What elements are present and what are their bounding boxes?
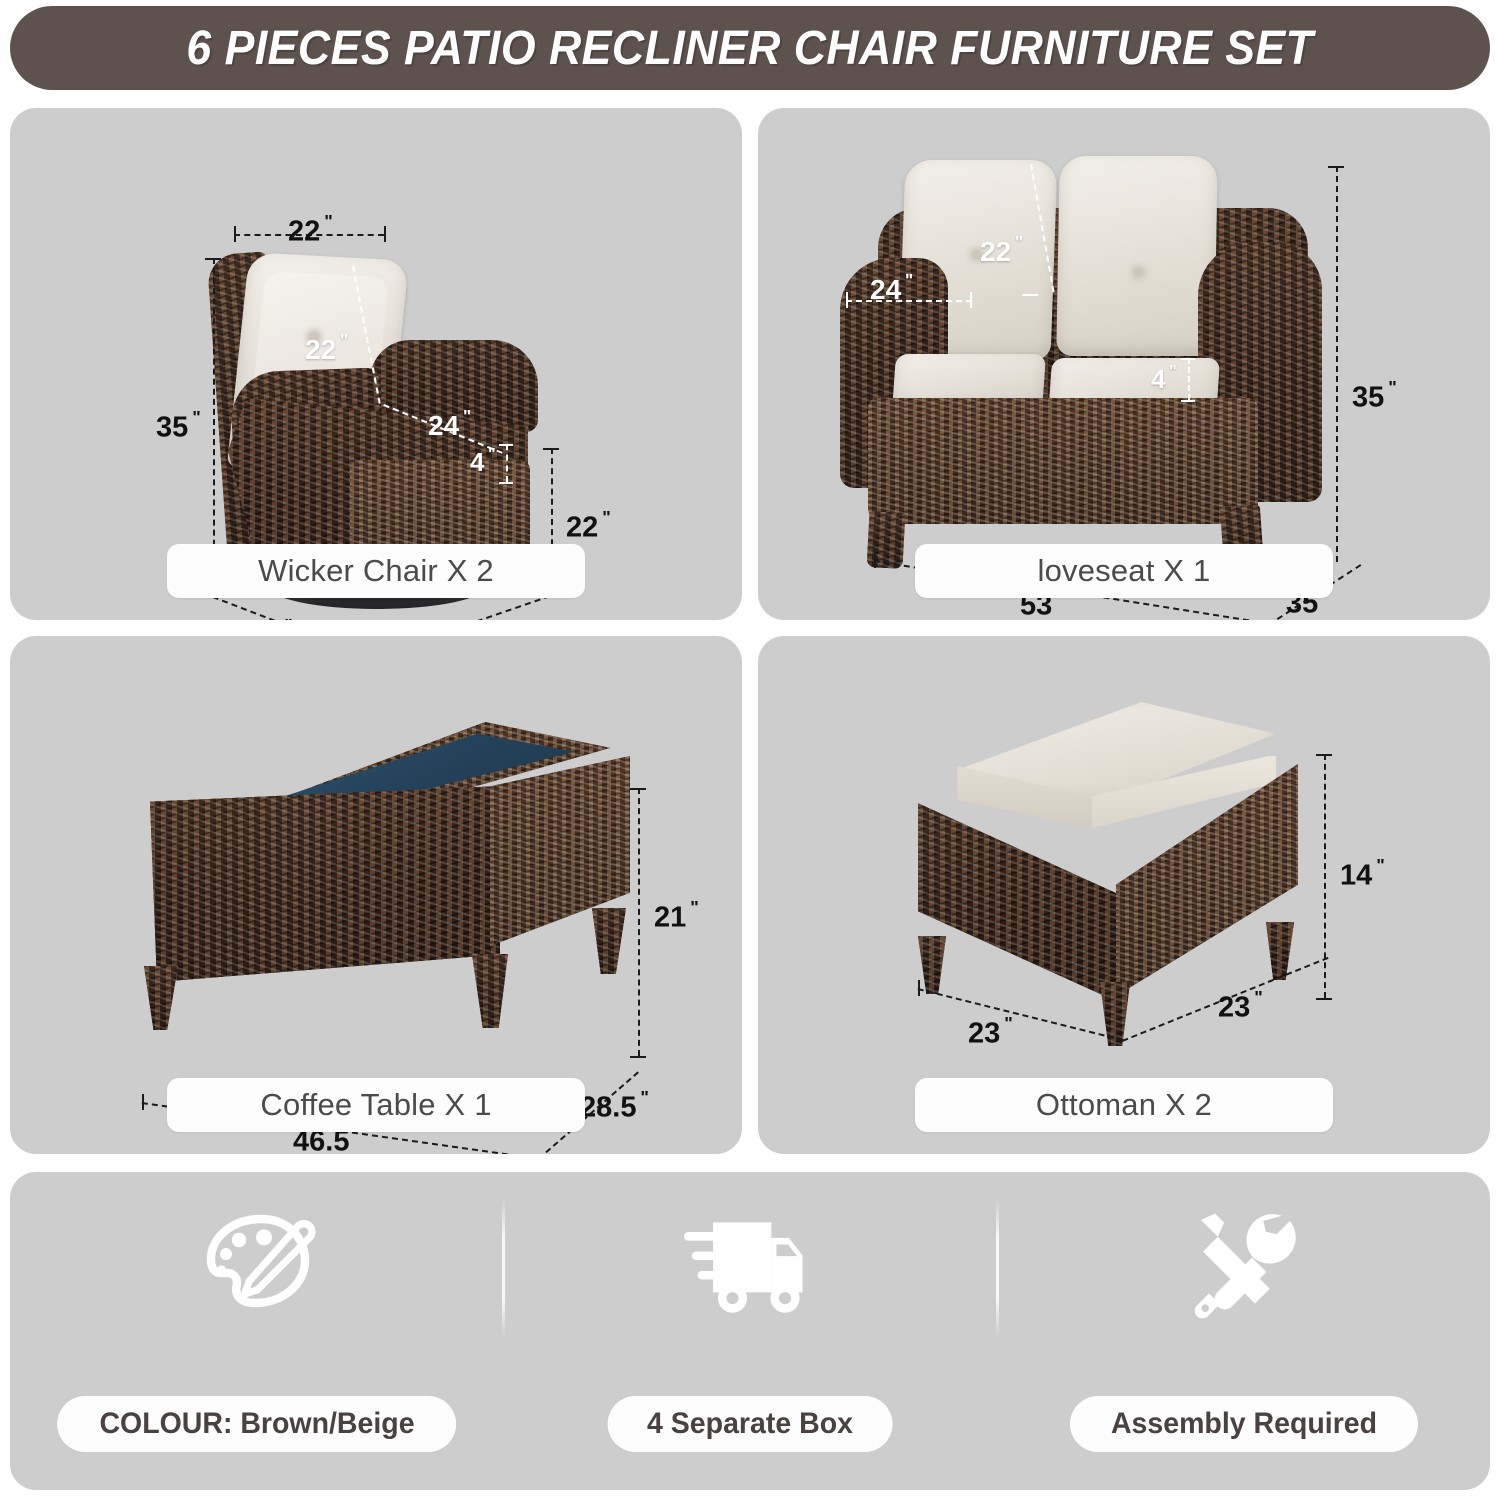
panel-ottoman: 14" 23" 23" Ottoman X 2 [758,636,1490,1154]
loveseat-height-line [1336,166,1338,562]
feature-shipping-pill: 4 Separate Box [608,1396,893,1452]
loveseat-button-right [1134,268,1143,277]
chair-top-width-tick-right [384,226,386,242]
chair-dim-seat-height: 22" [566,508,611,542]
chair-dim-seat-depth: 24" [428,408,471,440]
feature-strip: COLOUR: Brown/Beige [10,1172,1490,1490]
ottoman-dim-height: 14" [1340,856,1385,890]
caption-text: Wicker Chair X 2 [258,553,494,589]
loveseat-dim-height: 35" [1352,378,1397,412]
table-leg-back-right [592,908,626,974]
chair-cushion-thickness-tick-bottom [499,482,513,484]
table-height-line [638,788,640,1056]
feature-colour-pill: COLOUR: Brown/Beige [57,1396,457,1452]
ottoman-height-tick-top [1316,754,1332,756]
header-banner: 6 PIECES PATIO RECLINER CHAIR FURNITURE … [10,6,1490,90]
ottoman-illustration: 14" 23" 23" [758,636,1490,1154]
panel-loveseat: 22" 24" 4" 35" 53" [758,108,1490,620]
loveseat-dim-seat-depth: 24" [870,272,913,304]
tools-icon [1180,1205,1308,1333]
caption-coffee-table: Coffee Table X 1 [167,1078,585,1132]
paint-palette-icon [193,1205,321,1333]
chair-cushion-thickness-line [506,444,508,482]
caption-wicker-chair: Wicker Chair X 2 [167,544,585,598]
loveseat-cushion-thickness-tick-top [1181,358,1195,360]
ottoman-height-line [1324,754,1326,998]
table-dim-height: 21" [654,898,699,932]
table-leg-front-right [472,954,508,1028]
feature-shipping: 4 Separate Box [503,1172,997,1490]
chair-dim-height: 35" [156,408,201,442]
loveseat-dim-back-cushion: 22" [980,234,1023,266]
chair-top-width-tick-left [234,226,236,242]
chair-dim-cushion-thickness: 4" [470,446,496,475]
feature-assembly: Assembly Required [997,1172,1490,1490]
table-leg-front-left [144,966,178,1030]
feature-colour: COLOUR: Brown/Beige [10,1172,503,1490]
loveseat-seat-depth-tick-left [846,292,848,308]
chair-dim-depth: 26" [248,616,293,620]
ottoman-leg-left [918,936,946,994]
caption-text: Coffee Table X 1 [260,1087,491,1123]
loveseat-dim-cushion-thickness: 4" [1151,363,1177,392]
chair-seat-height-tick-top [543,448,559,450]
table-height-tick-bottom [630,1056,646,1058]
caption-text: Ottoman X 2 [1036,1087,1212,1123]
panel-coffee-table: 21" 46.5" 28.5" Coffee Table X 1 [10,636,742,1154]
panel-wicker-chair: 22" 35" 22" 24" 4" 2 [10,108,742,620]
loveseat-back-cushion-tick [1022,294,1038,296]
loveseat-front-apron [868,398,1258,524]
coffee-table-illustration: 21" 46.5" 28.5" [10,636,742,1154]
loveseat-leg-left [867,511,906,569]
page-title: 6 PIECES PATIO RECLINER CHAIR FURNITURE … [186,21,1313,76]
feature-colour-label: COLOUR: Brown/Beige [99,1407,414,1441]
feature-shipping-label: 4 Separate Box [647,1407,853,1441]
loveseat-back-cushion-right [1056,156,1217,356]
caption-text: loveseat X 1 [1037,553,1210,589]
ottoman-width-line [918,988,1124,1041]
caption-loveseat: loveseat X 1 [915,544,1333,598]
ottoman-dim-depth: 23" [1218,988,1263,1022]
ottoman-height-tick-bottom [1316,998,1332,1000]
loveseat-height-tick-top [1328,166,1344,168]
chair-height-tick-top [205,258,221,260]
caption-ottoman: Ottoman X 2 [915,1078,1333,1132]
ottoman-dim-width: 23" [968,1014,1013,1048]
table-front-panel [150,786,500,982]
loveseat-cushion-thickness-tick-bottom [1181,400,1195,402]
chair-dim-width: 30" [462,619,507,620]
product-infographic: 6 PIECES PATIO RECLINER CHAIR FURNITURE … [0,0,1500,1497]
chair-dim-top-width: 22" [288,212,333,246]
feature-assembly-pill: Assembly Required [1069,1396,1417,1452]
feature-assembly-label: Assembly Required [1110,1407,1376,1441]
chair-dim-back-cushion: 22" [305,332,348,364]
delivery-truck-icon [680,1205,820,1333]
loveseat-seat-depth-tick-right [970,292,972,308]
chair-cushion-thickness-tick-top [499,444,513,446]
loveseat-cushion-thickness-line [1188,358,1190,400]
table-dim-depth: 28.5" [580,1088,649,1122]
table-height-tick-top [630,788,646,790]
product-panel-grid: 22" 35" 22" 24" 4" 2 [10,108,1490,1154]
